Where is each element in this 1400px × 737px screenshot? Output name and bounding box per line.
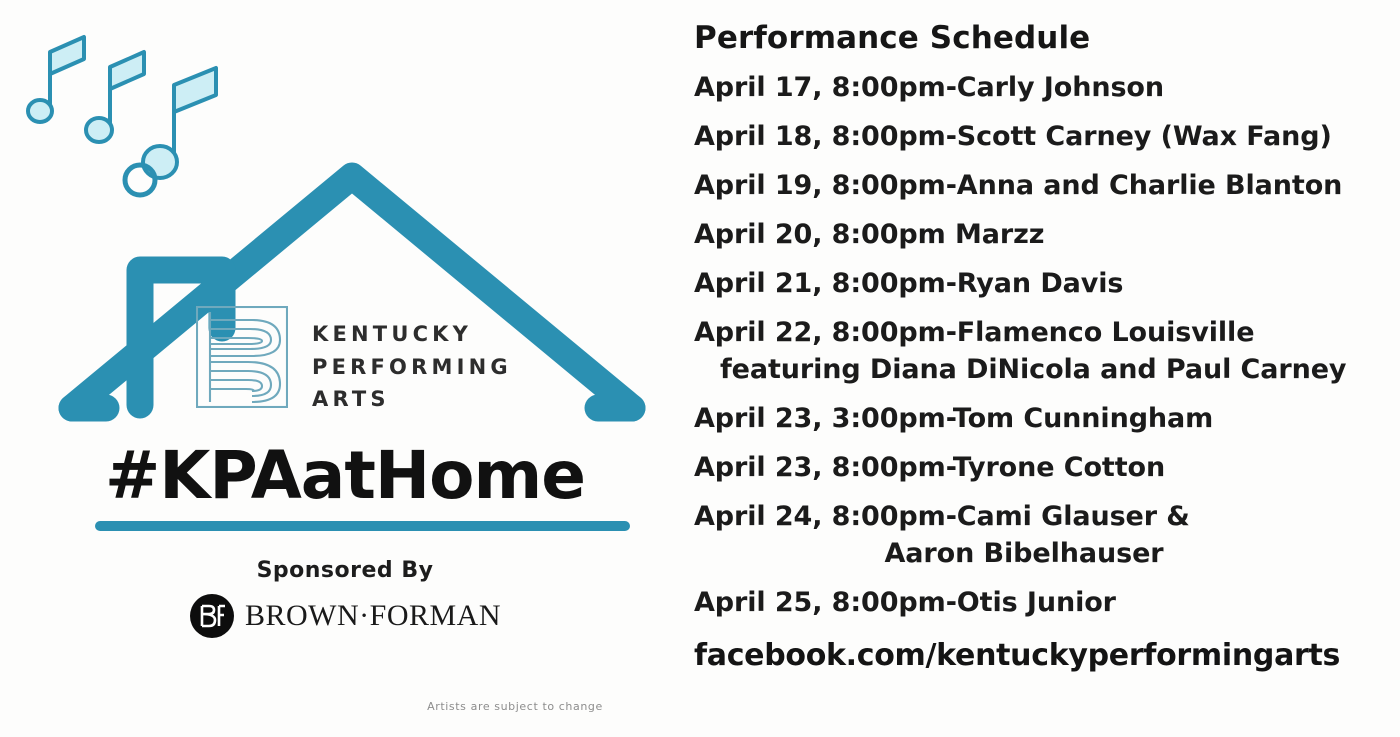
schedule-row: April 23, 3:00pm-Tom Cunningham [694, 405, 1400, 432]
schedule-heading: Performance Schedule [694, 20, 1400, 56]
schedule-row-continuation: Aaron Bibelhauser [694, 540, 1354, 567]
performance-schedule-panel: Performance Schedule April 17, 8:00pm-Ca… [694, 20, 1400, 710]
sponsor-block: Sponsored By BROWN·FORMAN [0, 558, 690, 639]
wordmark-line-arts: ARTS [312, 383, 512, 416]
wordmark-line-kentucky: KENTUCKY [312, 318, 512, 351]
kpa-wordmark-text: KENTUCKY PERFORMING ARTS [312, 306, 512, 416]
schedule-row: April 24, 8:00pm-Cami Glauser & [694, 503, 1400, 530]
kpa-at-home-poster: KENTUCKY PERFORMING ARTS #KPAatHome Spon… [0, 0, 1400, 737]
brand-panel: KENTUCKY PERFORMING ARTS #KPAatHome Spon… [0, 0, 690, 737]
accent-divider-bar [95, 521, 630, 531]
schedule-row: April 25, 8:00pm-Otis Junior [694, 589, 1400, 616]
schedule-rows: April 17, 8:00pm-Carly JohnsonApril 18, … [694, 74, 1400, 616]
schedule-row-continuation: featuring Diana DiNicola and Paul Carney [694, 356, 1400, 383]
schedule-row: April 23, 8:00pm-Tyrone Cotton [694, 454, 1400, 481]
kpa-k-monogram-icon [196, 306, 288, 408]
sponsored-by-label: Sponsored By [0, 558, 690, 583]
schedule-row: April 21, 8:00pm-Ryan Davis [694, 270, 1400, 297]
schedule-row: April 18, 8:00pm-Scott Carney (Wax Fang) [694, 123, 1400, 150]
hashtag-title: #KPAatHome [0, 437, 690, 514]
schedule-row: April 17, 8:00pm-Carly Johnson [694, 74, 1400, 101]
sponsor-logo-row: BROWN·FORMAN [0, 593, 690, 639]
schedule-row: April 22, 8:00pm-Flamenco Louisville [694, 319, 1400, 346]
schedule-row: April 20, 8:00pm Marzz [694, 221, 1400, 248]
schedule-row: April 19, 8:00pm-Anna and Charlie Blanto… [694, 172, 1400, 199]
wordmark-line-performing: PERFORMING [312, 351, 512, 384]
sponsor-name: BROWN·FORMAN [245, 599, 501, 633]
brown-forman-seal-icon [189, 593, 235, 639]
facebook-link[interactable]: facebook.com/kentuckyperformingarts [694, 638, 1400, 673]
kpa-logo-lockup: KENTUCKY PERFORMING ARTS [196, 306, 526, 416]
